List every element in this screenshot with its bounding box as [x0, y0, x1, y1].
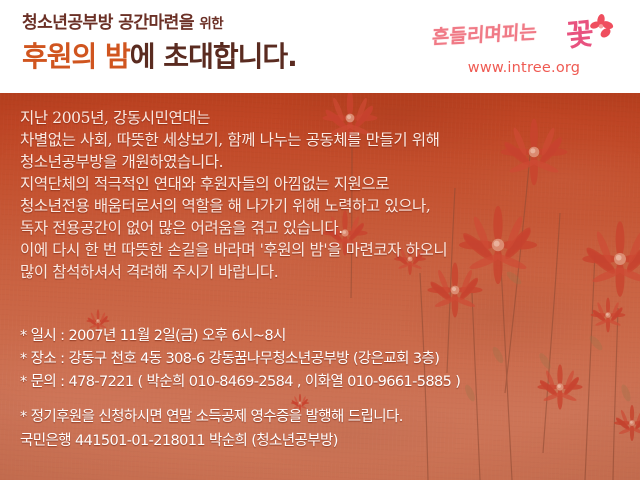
donation-footer: * 정기후원을 신청하시면 연말 소득공제 영수증을 발행해 드립니다. 국민은…	[20, 405, 634, 453]
title-accent-2: 밤	[105, 40, 130, 73]
paragraph-line: 지역단체의 적극적인 연대와 후원자들의 아낌없는 지원으로	[20, 173, 630, 195]
paragraph-line: 청소년전용 배움터로서의 역할을 해 나가기 위해 노력하고 있으나,	[20, 195, 630, 217]
paragraph-line: 청소년공부방을 개원하였습니다.	[20, 151, 630, 173]
event-details: * 일시 : 2007년 11월 2일(금) 오후 6시~8시 * 장소 : 강…	[20, 325, 634, 394]
logo-script-text: 흔들리며피는	[431, 17, 537, 50]
paragraph-line: 많이 참석하셔서 격려해 주시기 바랍니다.	[20, 261, 630, 283]
logo-mark: 흔들리며피는 꽃	[424, 8, 624, 58]
footer-line-bank-account: 국민은행 441501-01-218011 박순희 (청소년공부방)	[20, 429, 634, 453]
paragraph-line: 지난 2005년, 강동시민연대는	[20, 107, 630, 129]
invitation-paragraph: 지난 2005년, 강동시민연대는 차별없는 사회, 따뜻한 세상보기, 함께 …	[20, 107, 630, 283]
footer-line-tax-receipt: * 정기후원을 신청하시면 연말 소득공제 영수증을 발행해 드립니다.	[20, 405, 634, 429]
organization-logo[interactable]: 흔들리며피는 꽃 www.intree.org	[424, 8, 624, 88]
header-title-block: 청소년공부방 공간마련을 위한 후원의 밤에 초대합니다.	[22, 14, 297, 71]
logo-website-url[interactable]: www.intree.org	[424, 60, 624, 76]
flyer-header: 청소년공부방 공간마련을 위한 후원의 밤에 초대합니다. 흔들리며피는 꽃	[0, 0, 640, 93]
invitation-flyer: 청소년공부방 공간마련을 위한 후원의 밤에 초대합니다. 흔들리며피는 꽃	[0, 0, 640, 480]
flyer-body-panel: 지난 2005년, 강동시민연대는 차별없는 사회, 따뜻한 세상보기, 함께 …	[0, 93, 640, 480]
subtitle-main: 청소년공부방 공간마련을	[22, 13, 194, 33]
title-accent-1: 후원의	[22, 40, 96, 73]
detail-line-datetime: * 일시 : 2007년 11월 2일(금) 오후 6시~8시	[20, 325, 634, 348]
subtitle-tail: 위한	[199, 16, 223, 32]
flyer-title: 후원의 밤에 초대합니다.	[22, 42, 297, 71]
detail-line-venue: * 장소 : 강동구 천호 4동 308-6 강동꿈나무청소년공부방 (강은교회…	[20, 348, 634, 371]
paragraph-line: 이에 다시 한 번 따뜻한 손길을 바라며 '후원의 밤'을 마련코자 하오니	[20, 239, 630, 261]
flower-petal-icon	[588, 14, 614, 40]
paragraph-line: 독자 전용공간이 없어 많은 어려움을 겪고 있습니다.	[20, 217, 630, 239]
paragraph-line: 차별없는 사회, 따뜻한 세상보기, 함께 나누는 공동체를 만들기 위해	[20, 129, 630, 151]
flyer-content: 지난 2005년, 강동시민연대는 차별없는 사회, 따뜻한 세상보기, 함께 …	[0, 93, 640, 480]
title-rest: 에 초대합니다.	[130, 40, 297, 73]
flyer-subtitle: 청소년공부방 공간마련을 위한	[22, 14, 297, 33]
detail-line-contact: * 문의 : 478-7221 ( 박순희 010-8469-2584 , 이화…	[20, 371, 634, 394]
